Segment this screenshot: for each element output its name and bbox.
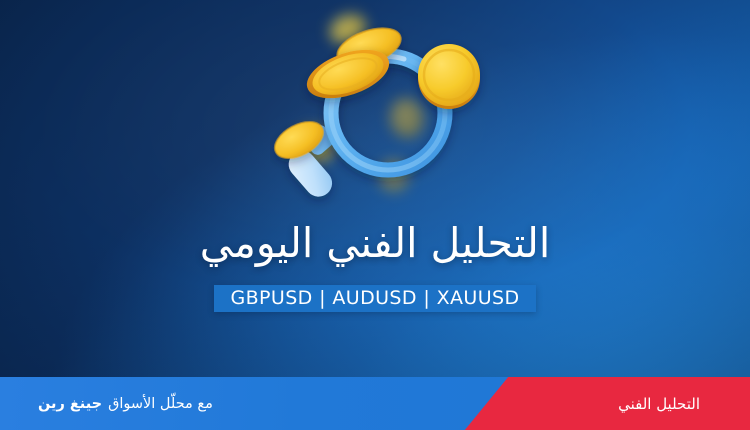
footer-bar: مع محلّل الأسواق جينغ رين التحليل الفني: [0, 377, 750, 430]
footer-analyst-credit: مع محلّل الأسواق جينغ رين: [38, 377, 213, 430]
pairs-badge-row: GBPUSD | AUDUSD | XAUUSD: [0, 285, 750, 312]
footer-red-panel: [440, 377, 750, 430]
footer-analyst-name: جينغ رين: [38, 396, 102, 412]
page-title: التحليل الفني اليومي: [0, 218, 750, 268]
magnifier-coins-illustration: [270, 0, 500, 215]
gold-coin-icon-right: [418, 44, 480, 109]
footer-analyst-prefix: مع محلّل الأسواق: [108, 396, 213, 412]
daily-technical-analysis-banner: التحليل الفني اليومي GBPUSD | AUDUSD | X…: [0, 0, 750, 430]
currency-pairs-badge: GBPUSD | AUDUSD | XAUUSD: [214, 285, 535, 312]
footer-category-label: التحليل الفني: [618, 377, 700, 430]
gold-coin-icon-tilted-front: [307, 45, 389, 103]
